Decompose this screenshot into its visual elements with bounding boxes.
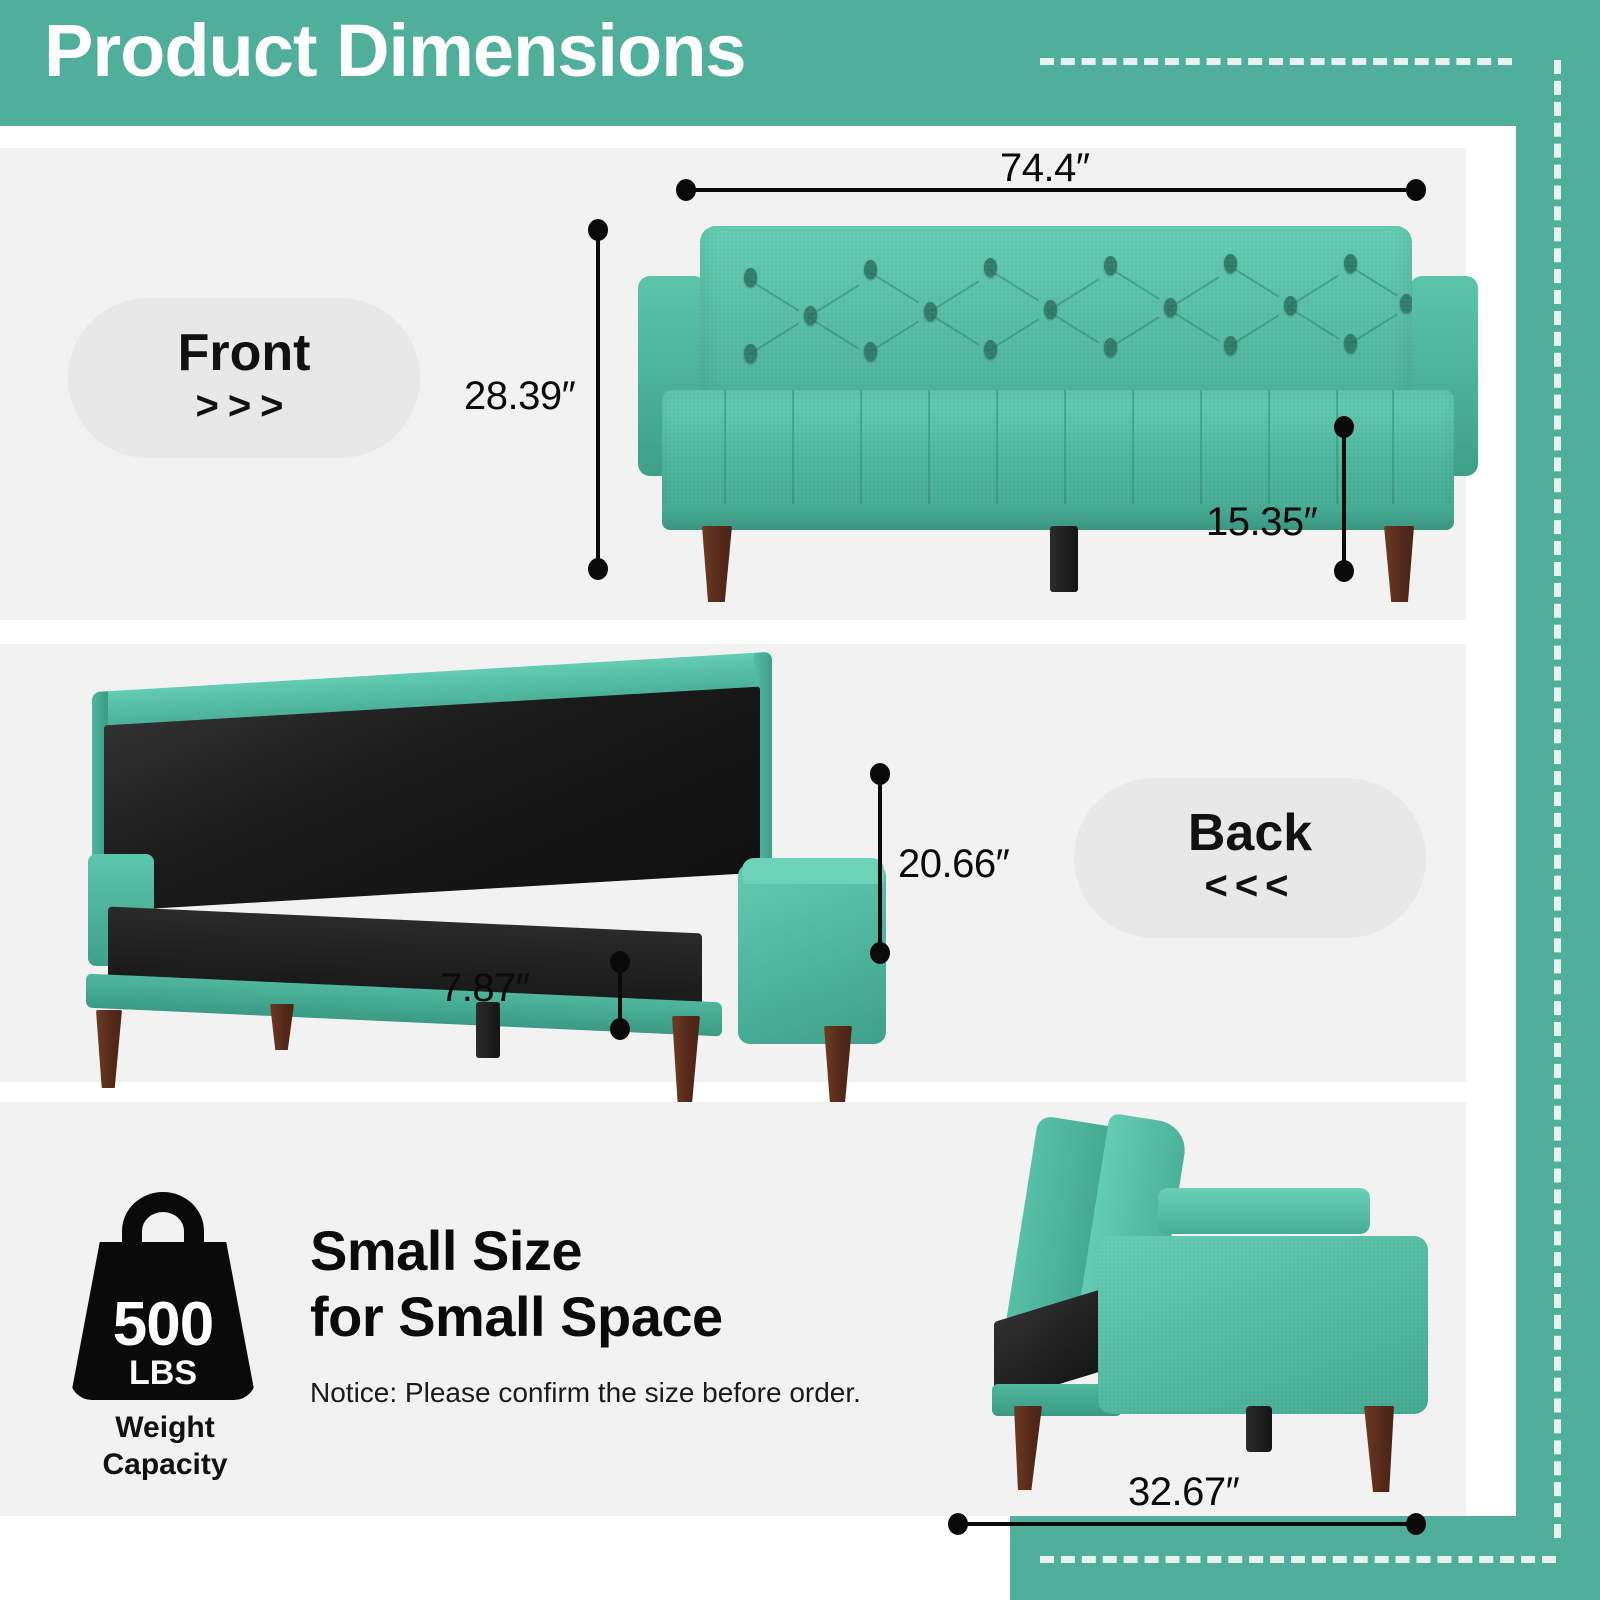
size-copy-block: Small Size for Small Space Notice: Pleas… [310, 1218, 930, 1411]
weight-icon: 500 LBS [70, 1190, 256, 1400]
dim-dot-seat-bottom [1334, 560, 1354, 582]
dim-dot-height-bottom [588, 558, 608, 580]
dim-dot-clearance-bottom [610, 1018, 630, 1040]
notice-text: Notice: Please confirm the size before o… [310, 1375, 930, 1411]
dim-dot-seat-top [1334, 416, 1354, 438]
badge-back-arrows: <<< [1204, 862, 1295, 910]
dim-dot-folded-top [870, 763, 890, 785]
weight-number: 500 [70, 1294, 256, 1356]
dim-dot-depth-right [1406, 1513, 1426, 1535]
dim-dot-depth-left [948, 1513, 968, 1535]
side-leg-right [1364, 1406, 1394, 1492]
sofa-leg-right [1384, 526, 1414, 602]
back-leg-3 [672, 1016, 700, 1102]
back-leg-4 [824, 1026, 852, 1106]
badge-back-label: Back [1188, 806, 1312, 861]
badge-front: Front >>> [68, 298, 420, 458]
sofa-front-illustration [622, 212, 1494, 602]
sofa-leg-center [1050, 526, 1078, 592]
sofa-back-panel-assembly [92, 652, 772, 924]
dim-line-depth [958, 1522, 1416, 1526]
dim-line-seat-height [1342, 424, 1346, 568]
badge-front-label: Front [178, 326, 311, 381]
dim-dot-folded-bottom [870, 942, 890, 964]
dim-line-folded-height [878, 772, 882, 950]
infographic-canvas: Product Dimensions Front >>> [0, 0, 1600, 1600]
page-title: Product Dimensions [44, 10, 746, 91]
sofa-seat [662, 390, 1454, 520]
dim-label-clearance: 7.87″ [440, 966, 530, 1011]
dim-line-width [686, 188, 1414, 192]
sofa-side-illustration [958, 1106, 1448, 1494]
side-leg-center [1246, 1406, 1272, 1452]
side-leg-left [1014, 1406, 1042, 1490]
dim-line-height [596, 228, 600, 568]
weight-caption-line1: Weight [70, 1410, 260, 1447]
headline-line1: Small Size [310, 1218, 930, 1284]
weight-unit: LBS [70, 1356, 256, 1390]
headline-line2: for Small Space [310, 1284, 930, 1350]
dim-dot-height-top [588, 219, 608, 241]
dim-label-width: 74.4″ [1000, 146, 1090, 191]
dim-label-depth: 32.67″ [1128, 1470, 1239, 1515]
side-arm-texture [1098, 1236, 1428, 1414]
sofa-arm-near [738, 864, 886, 1044]
sofa-leg-left [702, 526, 732, 602]
dim-label-seat-height: 15.35″ [1206, 500, 1317, 545]
side-arm-panel [1098, 1236, 1428, 1414]
dashed-line-right [1554, 60, 1561, 1538]
weight-caption: Weight Capacity [70, 1410, 260, 1483]
dim-dot-width-right [1406, 179, 1426, 201]
weight-caption-line2: Capacity [70, 1447, 260, 1484]
weight-capacity-block: 500 LBS Weight Capacity [70, 1190, 260, 1483]
side-back-top-bar [1158, 1188, 1370, 1234]
sofa-backrest [700, 226, 1412, 416]
dim-label-height: 28.39″ [464, 374, 575, 419]
back-leg-2 [270, 1004, 294, 1050]
badge-front-arrows: >>> [195, 382, 292, 430]
dim-dot-width-left [676, 179, 696, 201]
tufting-pattern [700, 226, 1412, 416]
back-black-fabric [104, 687, 760, 912]
badge-back: Back <<< [1074, 778, 1426, 938]
dashed-line-top [1040, 58, 1512, 65]
dim-label-folded-height: 20.66″ [898, 842, 1009, 887]
dashed-line-bottom [1040, 1556, 1556, 1563]
sofa-arm-near-top [742, 858, 884, 884]
dim-dot-clearance-top [610, 951, 630, 973]
